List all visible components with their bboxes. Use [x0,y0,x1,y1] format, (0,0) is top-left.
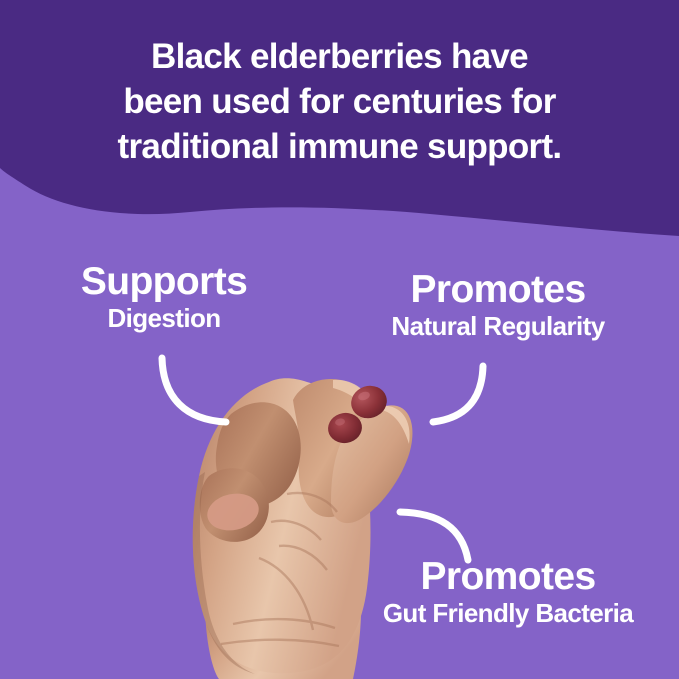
callout-regularity: Promotes Natural Regularity [336,269,660,341]
callout-digestion: Supports Digestion [20,261,308,333]
pointer-arc-icon-1 [150,350,240,434]
callout-digestion-primary: Supports [20,261,308,303]
callout-regularity-secondary: Natural Regularity [336,311,660,341]
callout-gut-bacteria-primary: Promotes [340,556,676,598]
callout-regularity-primary: Promotes [336,269,660,311]
product-benefits-graphic: Black elderberries have been used for ce… [0,0,679,679]
headline-line-3: traditional immune support. [0,124,679,169]
pointer-arc-icon-3 [392,500,482,570]
callout-gut-bacteria-secondary: Gut Friendly Bacteria [340,598,676,628]
callout-digestion-secondary: Digestion [20,303,308,333]
callout-gut-bacteria: Promotes Gut Friendly Bacteria [340,556,676,628]
page-title: Black elderberries have been used for ce… [0,34,679,169]
pointer-arc-icon-2 [425,358,497,434]
headline-line-2: been used for centuries for [0,79,679,124]
headline-line-1: Black elderberries have [0,34,679,79]
